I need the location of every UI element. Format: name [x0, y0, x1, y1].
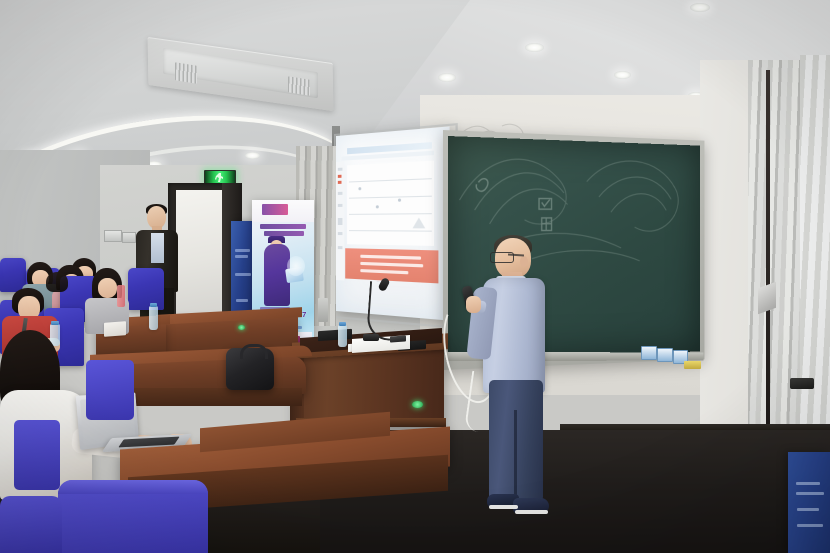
- chair-foreground-1-highlight: [58, 480, 208, 494]
- presenter-hand: [466, 296, 481, 313]
- water-bottle-cap-1: [150, 303, 157, 307]
- window-curtain-edge[interactable]: [800, 55, 830, 455]
- board-eraser[interactable]: [684, 361, 701, 369]
- downlight-icon-10: [690, 3, 710, 12]
- ac-vent-right: [288, 76, 310, 95]
- downlight-icon-8: [614, 71, 631, 79]
- shoe-sole-left: [489, 505, 518, 509]
- water-bottle-cap-podium: [339, 322, 346, 326]
- open-door-panel[interactable]: [176, 190, 224, 316]
- chalk-box-2[interactable]: [657, 348, 673, 362]
- banner-headline-1: [260, 224, 306, 229]
- chair-foreground-2[interactable]: [0, 496, 62, 553]
- podium-post: [318, 298, 328, 322]
- held-water-bottle-cap: [51, 321, 59, 325]
- open-book[interactable]: [104, 321, 126, 337]
- ac-vent-left: [175, 62, 197, 83]
- microphone-base: [363, 334, 379, 341]
- banner-highlight: [287, 256, 305, 276]
- water-bottle-podium[interactable]: [338, 325, 347, 347]
- observer-shirt-front: [151, 233, 164, 263]
- lecture-hall-photo: 4008 117 117: [0, 0, 830, 553]
- downlight-icon-6: [438, 73, 456, 82]
- right-banner-text-2: [796, 492, 824, 495]
- banner2-text-1: [235, 249, 250, 252]
- banner2-text-2: [235, 255, 248, 258]
- downlight-icon-7: [525, 43, 544, 52]
- downlight-icon-4: [245, 152, 260, 159]
- podium-remote[interactable]: [390, 335, 406, 342]
- chair-r3-2[interactable]: [128, 268, 164, 310]
- chalk-smudge-marks: [450, 140, 699, 290]
- desk-indicator-1: [238, 325, 245, 330]
- banner2-text-4: [236, 299, 248, 302]
- presenter-ear: [520, 256, 528, 267]
- running-man-exit-icon: [214, 172, 227, 183]
- water-bottle-desk-1[interactable]: [149, 306, 158, 330]
- wall-socket-plate[interactable]: [122, 232, 136, 243]
- right-banner-text-4: [797, 524, 823, 527]
- window-frame-mullion: [766, 70, 770, 440]
- handbag-strap: [240, 344, 268, 359]
- right-banner-text-3: [797, 508, 819, 511]
- wall-speaker-icon: [790, 378, 814, 389]
- shoe-sole-right: [515, 510, 548, 514]
- banner2-text-3: [235, 273, 251, 276]
- chair-row-mid-1[interactable]: [86, 360, 134, 420]
- chair-foreground-3[interactable]: [14, 420, 60, 490]
- presenter-leg-seam: [514, 410, 517, 502]
- red-bottle[interactable]: [117, 285, 125, 307]
- chalk-box-1[interactable]: [641, 346, 657, 360]
- wall-switch-plate[interactable]: [104, 230, 122, 242]
- right-banner-text-1: [796, 482, 820, 485]
- blue-banner-right: [788, 452, 830, 553]
- attendee-dark-top-1-hair: [46, 272, 68, 292]
- banner-logo: [262, 204, 288, 215]
- attendee-gray-top-face: [98, 278, 117, 298]
- podium-status-led: [412, 401, 423, 408]
